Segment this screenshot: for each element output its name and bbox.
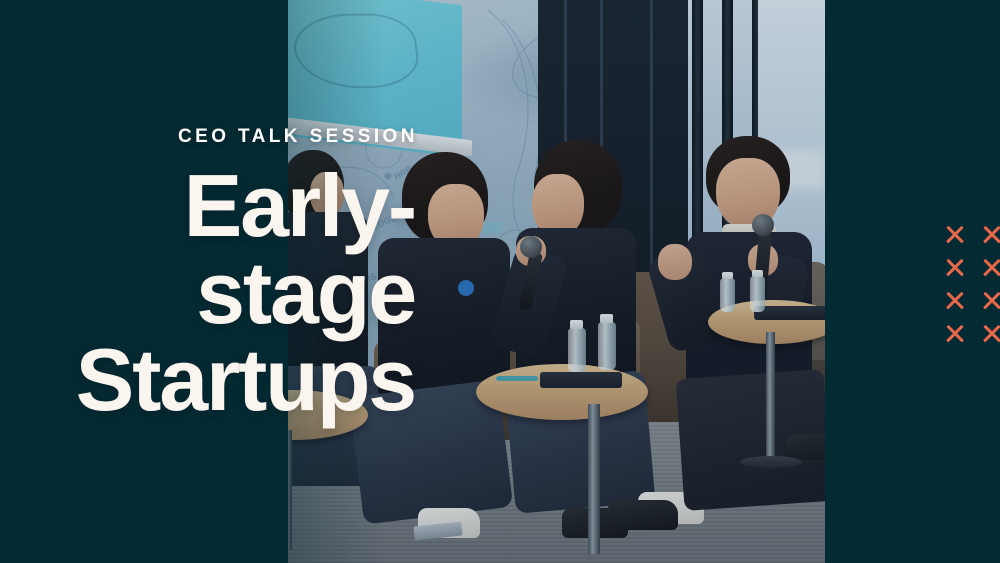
water-bottle-right-2 xyxy=(750,276,765,312)
person-right-shoe xyxy=(786,434,825,460)
x-mark-icon xyxy=(938,284,975,317)
microphone-right-head xyxy=(752,214,774,236)
x-mark-icon xyxy=(938,317,975,350)
pen-center xyxy=(496,376,538,381)
page-title-line-2: stage xyxy=(40,249,415,336)
x-mark-icon xyxy=(975,218,1000,251)
x-mark-icon xyxy=(975,251,1000,284)
floor-shoe-far xyxy=(608,500,678,530)
water-bottle-right-1 xyxy=(720,278,735,312)
x-mark-grid xyxy=(938,218,1000,350)
water-bottle-right-2-cap xyxy=(752,270,763,277)
water-bottle-center-1 xyxy=(568,328,586,372)
person-right-hand-left xyxy=(658,244,692,280)
x-mark-icon xyxy=(938,218,975,251)
side-table-right-base xyxy=(740,456,802,468)
slide-canvas: HRBrain Amptalk LOGLESS Onsolo FINDERS N… xyxy=(0,0,1000,563)
eyebrow-label: CEO TALK SESSION xyxy=(178,126,418,148)
tablet-center xyxy=(540,372,622,388)
water-bottle-center-1-cap xyxy=(570,320,583,329)
side-table-left-pole xyxy=(288,430,292,550)
water-bottle-center-2-cap xyxy=(600,314,613,323)
page-title-line-1: Early- xyxy=(40,162,415,249)
x-mark-icon xyxy=(975,317,1000,350)
page-title: Early- stage Startups xyxy=(40,162,415,423)
microphone-center-head xyxy=(520,236,542,258)
page-title-line-3: Startups xyxy=(40,336,415,423)
side-table-right-pole xyxy=(766,332,775,462)
person-center-left-logo xyxy=(458,280,474,296)
water-bottle-right-1-cap xyxy=(722,272,733,279)
water-bottle-center-2 xyxy=(598,322,616,370)
side-table-center-pole xyxy=(588,404,600,554)
x-mark-icon xyxy=(975,284,1000,317)
x-mark-icon xyxy=(938,251,975,284)
